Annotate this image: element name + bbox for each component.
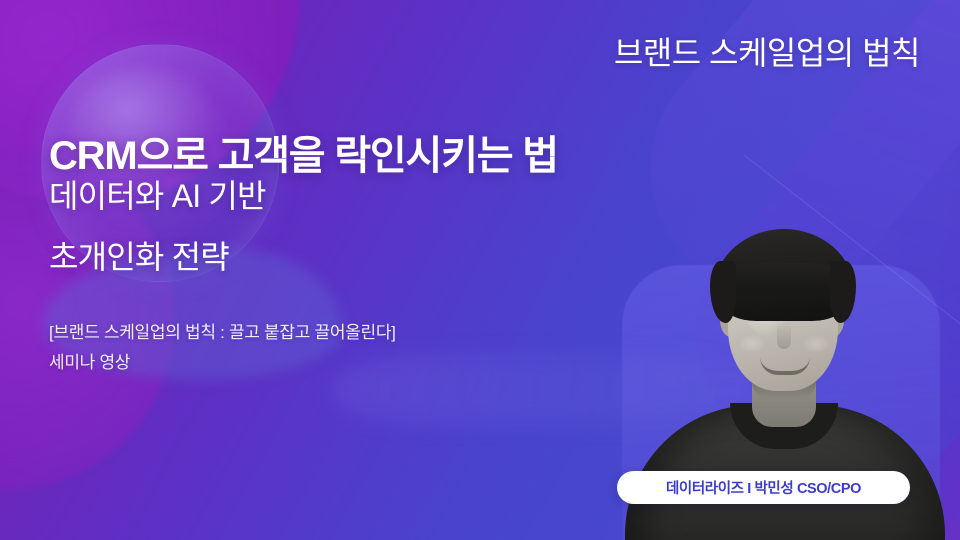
series-title: 브랜드 스케일업의 법칙 xyxy=(614,34,920,72)
presenter-cheek-right xyxy=(802,335,830,353)
seminar-title-slide: 브랜드 스케일업의 법칙 CRM으로 고객을 락인시키는 법 데이터와 AI 기… xyxy=(0,0,960,540)
presenter-hair-side-right xyxy=(830,261,856,323)
caption-line-2: 세미나 영상 xyxy=(49,348,396,378)
presenter-nose xyxy=(777,323,791,349)
subtitle-line-2: 초개인화 전략 xyxy=(49,238,229,276)
presenter-name-text: 데이터라이즈 I 박민성 CSO/CPO xyxy=(666,477,861,498)
presenter-hair-side-left xyxy=(710,261,736,323)
caption-block: [브랜드 스케일업의 법칙 : 끌고 붙잡고 끌어올린다] 세미나 영상 xyxy=(49,318,396,378)
subtitle-line-1: 데이터와 AI 기반 xyxy=(49,177,266,215)
presenter-name-badge: 데이터라이즈 I 박민성 CSO/CPO xyxy=(617,471,910,504)
presenter-hair-fringe xyxy=(722,263,846,297)
page-title: CRM으로 고객을 락인시키는 법 xyxy=(49,133,558,179)
caption-line-1: [브랜드 스케일업의 법칙 : 끌고 붙잡고 끌어올린다] xyxy=(49,318,396,348)
presenter-cheek-left xyxy=(738,335,766,353)
